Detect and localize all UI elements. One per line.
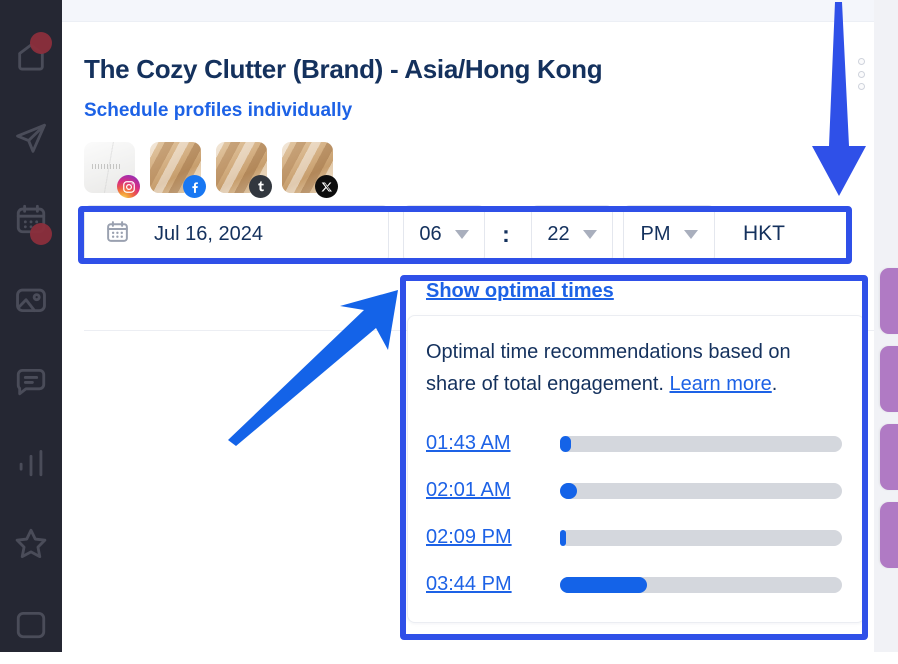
more-options-dot-3: [858, 83, 865, 90]
facebook-icon: [183, 175, 206, 198]
list-item[interactable]: 01:43 AM: [426, 420, 846, 467]
engagement-bar-fill: [560, 436, 571, 452]
time-colon-separator: :: [495, 205, 517, 263]
more-options-dot-2: [858, 71, 865, 78]
schedule-profiles-individually-link[interactable]: Schedule profiles individually: [84, 100, 352, 122]
hour-value: 06: [419, 223, 441, 246]
analytics-icon: [14, 445, 48, 479]
optimal-times-list: 01:43 AM 02:01 AM 02:09 PM: [426, 420, 846, 608]
sidebar-item-star[interactable]: [0, 502, 62, 583]
avatar-facebook[interactable]: [150, 142, 201, 193]
badge-home: [30, 32, 52, 54]
engagement-bar-fill: [560, 577, 647, 593]
page-title: The Cozy Clutter (Brand) - Asia/Hong Kon…: [84, 54, 602, 85]
inbox-icon: [14, 607, 48, 641]
chevron-down-icon: [583, 230, 597, 239]
avatar-tumblr[interactable]: [216, 142, 267, 193]
datetime-picker-row: Jul 16, 2024 06 : 22 PM HKT: [84, 205, 859, 263]
list-item[interactable]: 03:44 PM: [426, 561, 846, 608]
meridiem-value: PM: [641, 223, 671, 246]
optimal-description: Optimal time recommendations based on sh…: [426, 336, 846, 400]
date-input[interactable]: Jul 16, 2024: [84, 205, 389, 263]
optimal-time-link[interactable]: 03:44 PM: [426, 573, 538, 596]
comments-icon: [14, 364, 48, 398]
calendar-icon: [105, 219, 130, 249]
profile-avatar-row: [84, 142, 333, 193]
star-icon: [14, 526, 48, 560]
meridiem-select[interactable]: PM: [623, 205, 715, 263]
avatar-instagram[interactable]: [84, 142, 135, 193]
timezone-label: HKT: [743, 205, 785, 263]
image-icon: [14, 283, 48, 317]
chevron-down-icon: [684, 230, 698, 239]
rail-card[interactable]: [880, 502, 898, 568]
right-rail: [874, 0, 898, 652]
panel-top-strip: [62, 0, 898, 22]
tumblr-icon: [249, 175, 272, 198]
list-item[interactable]: 02:01 AM: [426, 467, 846, 514]
send-icon: [14, 121, 48, 155]
engagement-bar-track: [560, 577, 842, 593]
more-options-icon[interactable]: [854, 58, 868, 90]
sidebar-item-comments[interactable]: [0, 340, 62, 421]
show-optimal-times-link[interactable]: Show optimal times: [426, 280, 614, 303]
rail-card[interactable]: [880, 424, 898, 490]
x-icon: [315, 175, 338, 198]
engagement-bar-fill: [560, 483, 577, 499]
rail-card[interactable]: [880, 268, 898, 334]
sidebar-item-analytics[interactable]: [0, 421, 62, 502]
engagement-bar-track: [560, 436, 842, 452]
compose-panel: The Cozy Clutter (Brand) - Asia/Hong Kon…: [62, 0, 898, 652]
minute-value: 22: [547, 223, 569, 246]
app-sidebar: [0, 0, 62, 652]
sidebar-item-home[interactable]: [0, 16, 62, 97]
learn-more-link[interactable]: Learn more: [670, 373, 772, 395]
sidebar-item-calendar[interactable]: [0, 178, 62, 259]
sidebar-item-send[interactable]: [0, 97, 62, 178]
date-value: Jul 16, 2024: [154, 223, 263, 246]
chevron-down-icon: [455, 230, 469, 239]
minute-select[interactable]: 22: [531, 205, 613, 263]
badge-calendar: [30, 223, 52, 245]
sidebar-item-image[interactable]: [0, 259, 62, 340]
optimal-times-card: Optimal time recommendations based on sh…: [407, 315, 865, 623]
engagement-bar-track: [560, 483, 842, 499]
optimal-time-link[interactable]: 02:01 AM: [426, 479, 538, 502]
optimal-time-link[interactable]: 01:43 AM: [426, 432, 538, 455]
engagement-bar-fill: [560, 530, 566, 546]
hour-select[interactable]: 06: [403, 205, 485, 263]
instagram-icon: [117, 175, 140, 198]
optimal-description-suffix: .: [772, 373, 778, 395]
more-options-dot-1: [858, 58, 865, 65]
optimal-times-panel: Show optimal times Optimal time recommen…: [407, 280, 865, 623]
avatar-x[interactable]: [282, 142, 333, 193]
list-item[interactable]: 02:09 PM: [426, 514, 846, 561]
rail-card[interactable]: [880, 346, 898, 412]
engagement-bar-track: [560, 530, 842, 546]
optimal-time-link[interactable]: 02:09 PM: [426, 526, 538, 549]
